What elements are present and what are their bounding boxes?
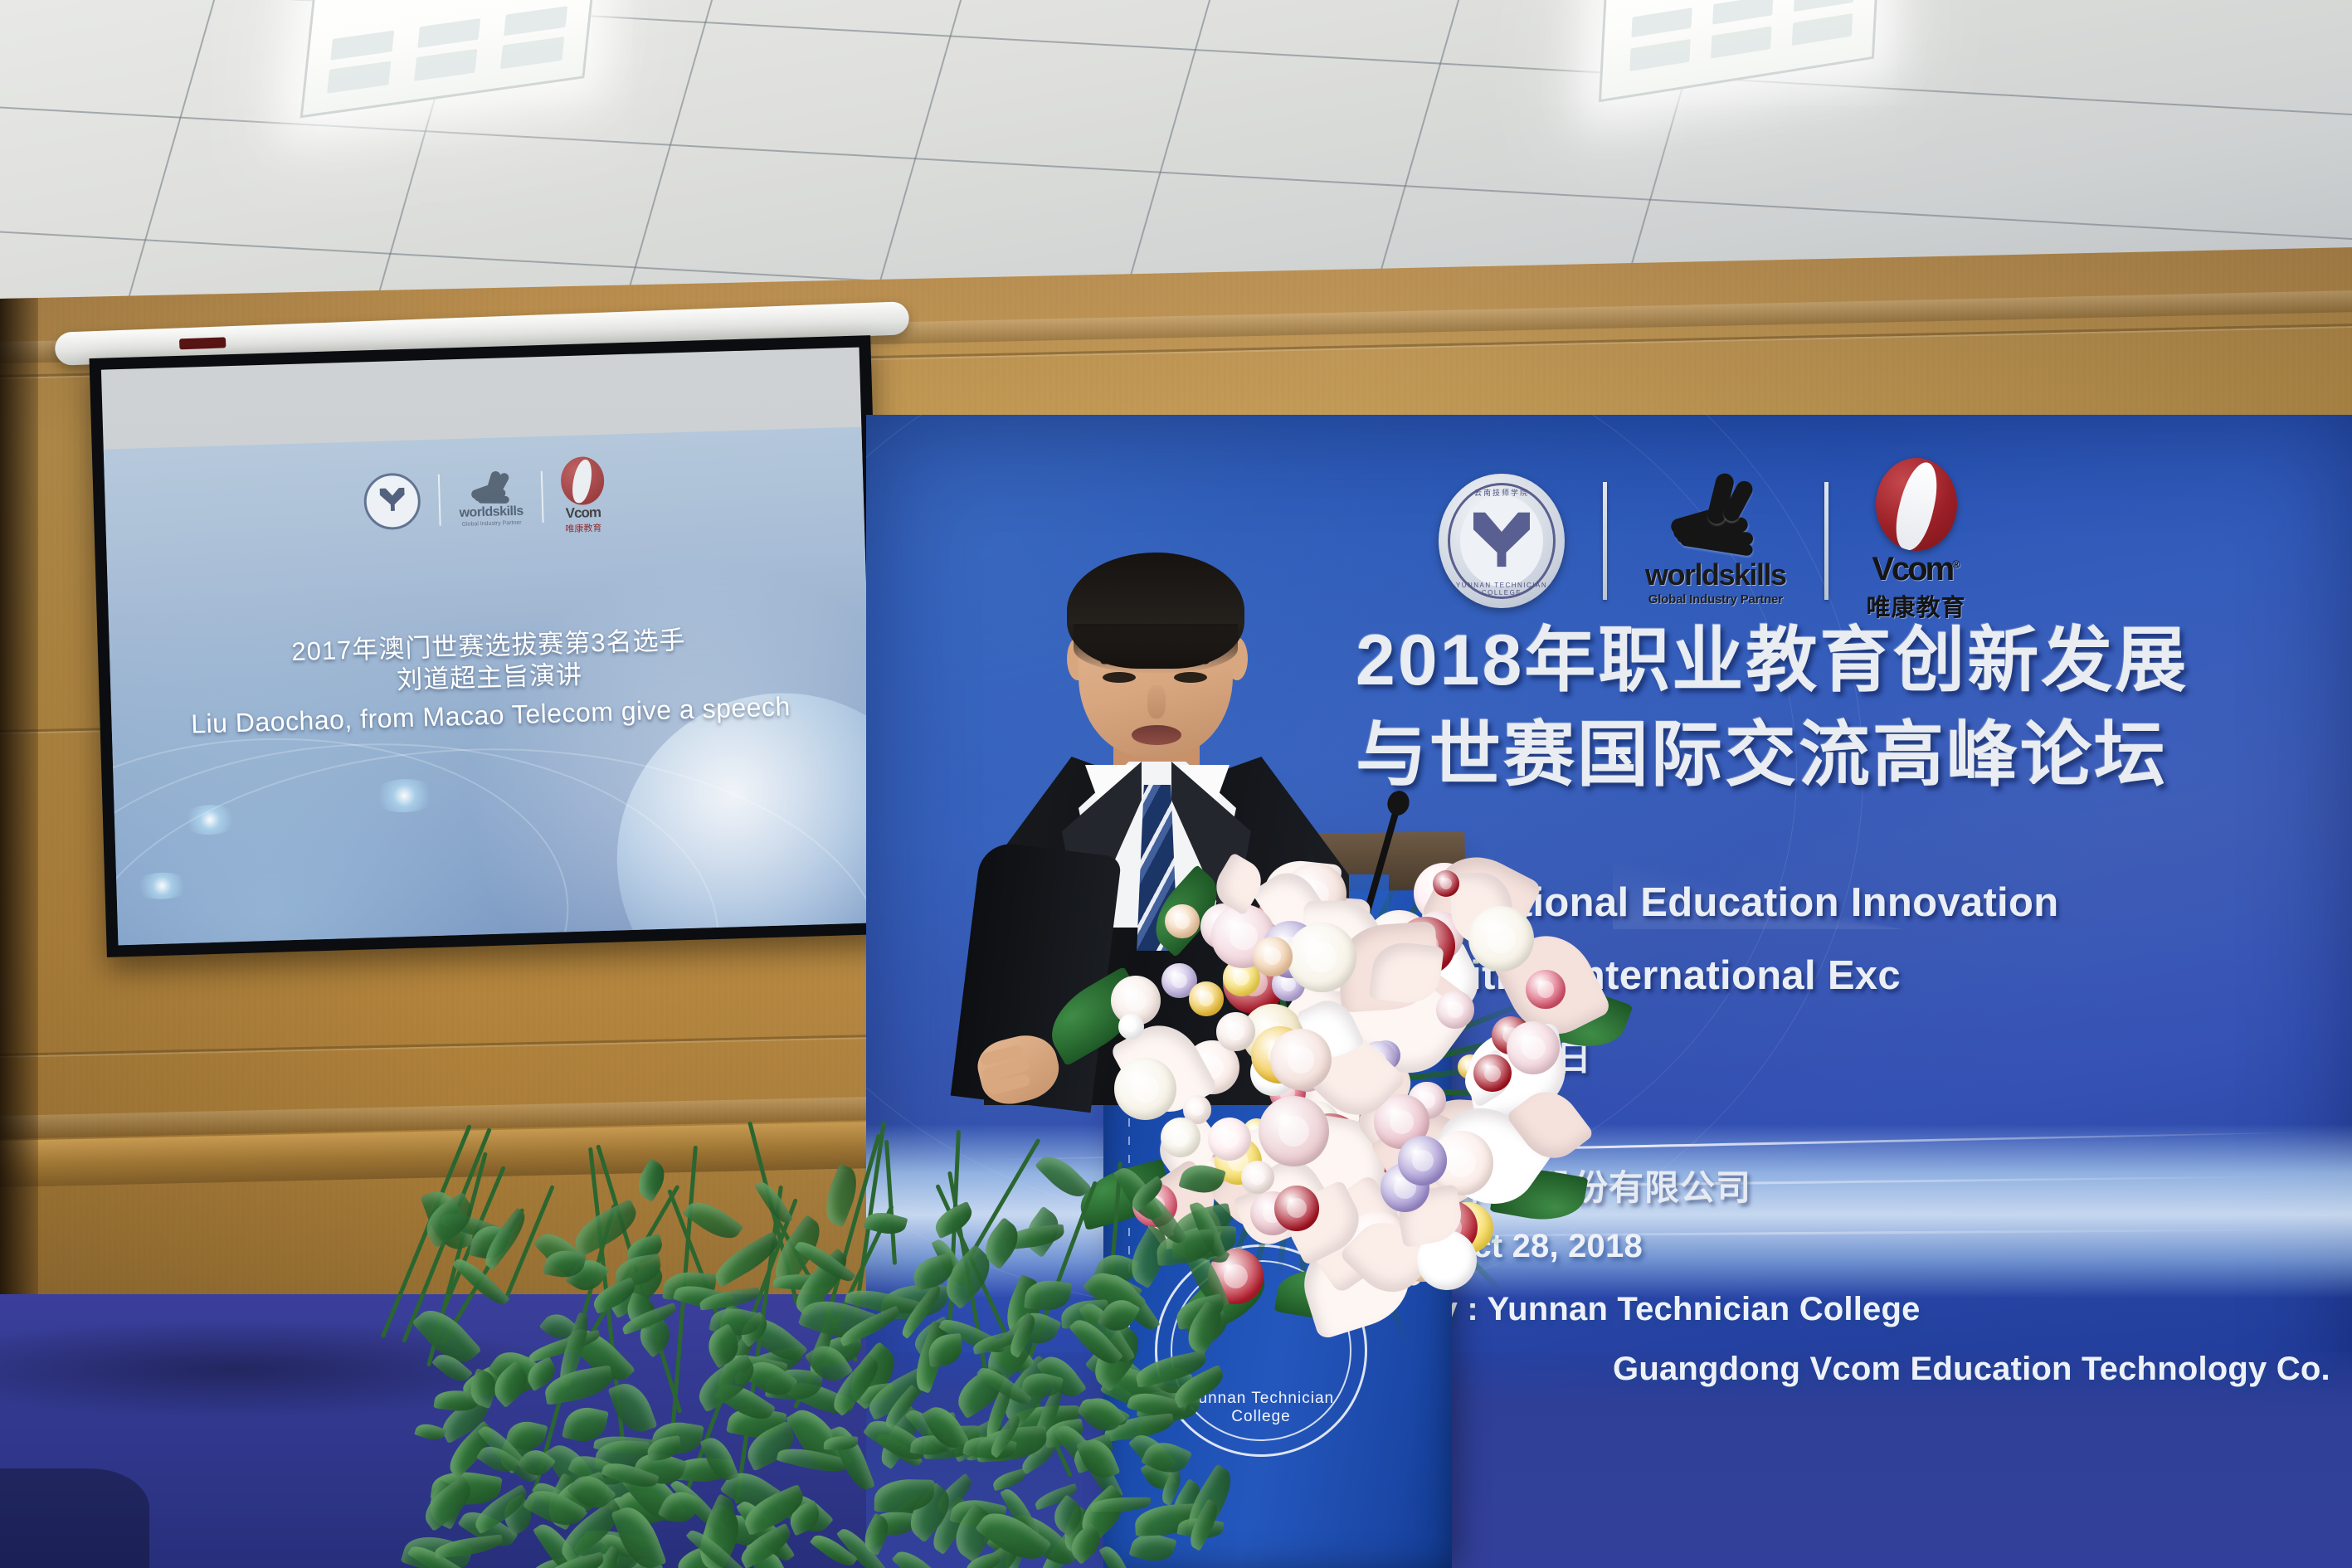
ws-word1: world xyxy=(459,504,493,519)
college-seal-icon xyxy=(363,472,421,530)
registered-icon: ® xyxy=(1952,558,1960,571)
vcom-logo: Vcom® 唯康教育 xyxy=(1867,458,1966,623)
flower xyxy=(1114,1058,1176,1120)
divider xyxy=(540,471,543,523)
flower xyxy=(1270,1029,1332,1090)
plant-leaf xyxy=(631,1158,670,1202)
flower xyxy=(1216,1012,1254,1050)
logo-divider xyxy=(1824,482,1829,600)
banner-en-org-2: Guangdong Vcom Education Technology Co. xyxy=(1613,1351,2330,1388)
flower xyxy=(1433,870,1459,897)
logo-divider xyxy=(1603,482,1607,600)
vcom-wordmark: Vcom xyxy=(1872,551,1952,587)
vcom-mark-icon xyxy=(1876,458,1957,551)
slide-logo-row: worldskills Global Industry Partner Vcom… xyxy=(105,449,864,549)
seal-arc-top: 云南技师学院 xyxy=(1439,487,1565,498)
plant-leaf xyxy=(1178,1159,1226,1198)
vcom-logo-icon: Vcom 唯康教育 xyxy=(560,456,606,536)
flower xyxy=(1287,923,1356,992)
flower xyxy=(1274,1186,1320,1231)
flower xyxy=(1259,1096,1329,1166)
worldskills-hand-icon xyxy=(1667,475,1765,554)
plant-leaf xyxy=(414,1420,446,1444)
plant-leaf xyxy=(451,1253,509,1311)
potted-plant xyxy=(348,1112,1228,1568)
banner-title-line-1: 2018年职业教育创新发展 xyxy=(1356,614,2352,709)
conference-hall-photo: worldskills Global Industry Partner Vcom… xyxy=(0,0,2352,1568)
flower xyxy=(1165,904,1199,938)
flower xyxy=(1398,1136,1447,1185)
flower xyxy=(1526,970,1566,1010)
backdrop-logo-row: 云南技师学院 YUNNAN TECHNICIAN COLLEGE worldsk… xyxy=(1439,458,1966,623)
flower xyxy=(1118,1014,1143,1039)
hair xyxy=(1067,553,1244,669)
worldskills-word2: skills xyxy=(1719,558,1786,592)
plant-leaf xyxy=(991,1468,1027,1492)
plant-leaf xyxy=(607,1377,657,1438)
plant-leaf xyxy=(1035,1148,1092,1205)
flower xyxy=(1468,906,1534,971)
flower xyxy=(1436,991,1474,1029)
flower xyxy=(1253,937,1293,976)
flower xyxy=(1473,1054,1511,1092)
divider xyxy=(438,475,441,526)
seal-arc-bottom: YUNNAN TECHNICIAN COLLEGE xyxy=(1439,582,1565,597)
worldskills-logo: worldskills Global Industry Partner xyxy=(1645,475,1786,606)
worldskills-logo-icon: worldskills Global Industry Partner xyxy=(458,470,523,527)
worldskills-tagline: Global Industry Partner xyxy=(1648,592,1783,606)
projection-screen: worldskills Global Industry Partner Vcom… xyxy=(101,348,876,946)
presentation-slide: worldskills Global Industry Partner Vcom… xyxy=(104,427,876,946)
ws-tagline: Global Industry Partner xyxy=(462,519,522,527)
worldskills-word1: world xyxy=(1645,558,1719,592)
ir-receiver-icon xyxy=(179,337,226,349)
yunnan-technician-college-seal-icon: 云南技师学院 YUNNAN TECHNICIAN COLLEGE xyxy=(1439,474,1565,608)
flower xyxy=(1507,1021,1560,1074)
ws-word2: skills xyxy=(493,504,524,519)
flower xyxy=(1189,981,1223,1015)
vcom-cn: 唯康教育 xyxy=(565,521,601,535)
plant-leaf xyxy=(1098,1542,1128,1568)
vcom-word: Vcom xyxy=(565,504,601,522)
